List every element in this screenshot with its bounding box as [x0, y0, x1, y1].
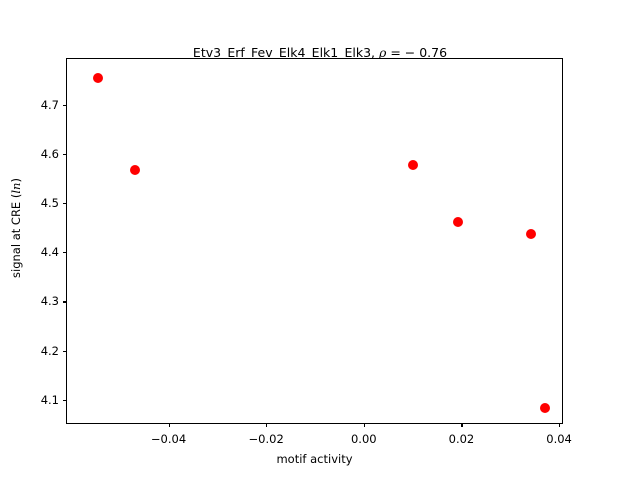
x-axis-tick-label: −0.02: [249, 432, 284, 446]
y-axis-tick-label: 4.7: [41, 98, 59, 112]
plot-axes-frame: −0.04−0.020.000.020.044.14.24.34.44.54.6…: [66, 58, 563, 424]
y-axis-tick-mark: [63, 105, 67, 106]
y-axis-tick-label: 4.6: [41, 147, 59, 161]
y-axis-label: signal at CRE (ln): [9, 128, 23, 328]
y-axis-tick-label: 4.2: [41, 344, 59, 358]
y-axis-label-suffix: ): [9, 178, 23, 183]
scatter-plot-figure: Etv3_Erf_Fev_Elk4_Elk1_Elk3, ρ = − 0.76 …: [0, 0, 640, 480]
y-axis-tick-label: 4.4: [41, 245, 59, 259]
x-axis-tick-mark: [169, 423, 170, 427]
y-axis-tick-mark: [63, 400, 67, 401]
scatter-point: [540, 403, 550, 413]
plot-data-area: [67, 59, 562, 423]
y-axis-tick-mark: [63, 351, 67, 352]
x-axis-tick-label: 0.04: [546, 432, 572, 446]
y-axis-tick-mark: [63, 252, 67, 253]
y-axis-tick-mark: [63, 301, 67, 302]
x-axis-tick-mark: [559, 423, 560, 427]
x-axis-tick-label: 0.00: [351, 432, 377, 446]
y-axis-tick-mark: [63, 203, 67, 204]
scatter-point: [408, 160, 418, 170]
scatter-point: [526, 229, 536, 239]
x-axis-tick-label: −0.04: [151, 432, 186, 446]
x-axis-tick-label: 0.02: [449, 432, 475, 446]
y-axis-tick-mark: [63, 154, 67, 155]
x-axis-tick-mark: [364, 423, 365, 427]
y-axis-tick-label: 4.1: [41, 393, 59, 407]
scatter-point: [93, 73, 103, 83]
y-axis-label-prefix: signal at CRE (: [9, 194, 23, 278]
y-axis-label-unit: ln: [9, 183, 23, 194]
scatter-point: [130, 165, 140, 175]
x-axis-label: motif activity: [66, 452, 563, 466]
scatter-point: [453, 217, 463, 227]
x-axis-tick-mark: [266, 423, 267, 427]
x-axis-tick-mark: [461, 423, 462, 427]
y-axis-tick-label: 4.5: [41, 196, 59, 210]
y-axis-tick-label: 4.3: [41, 294, 59, 308]
